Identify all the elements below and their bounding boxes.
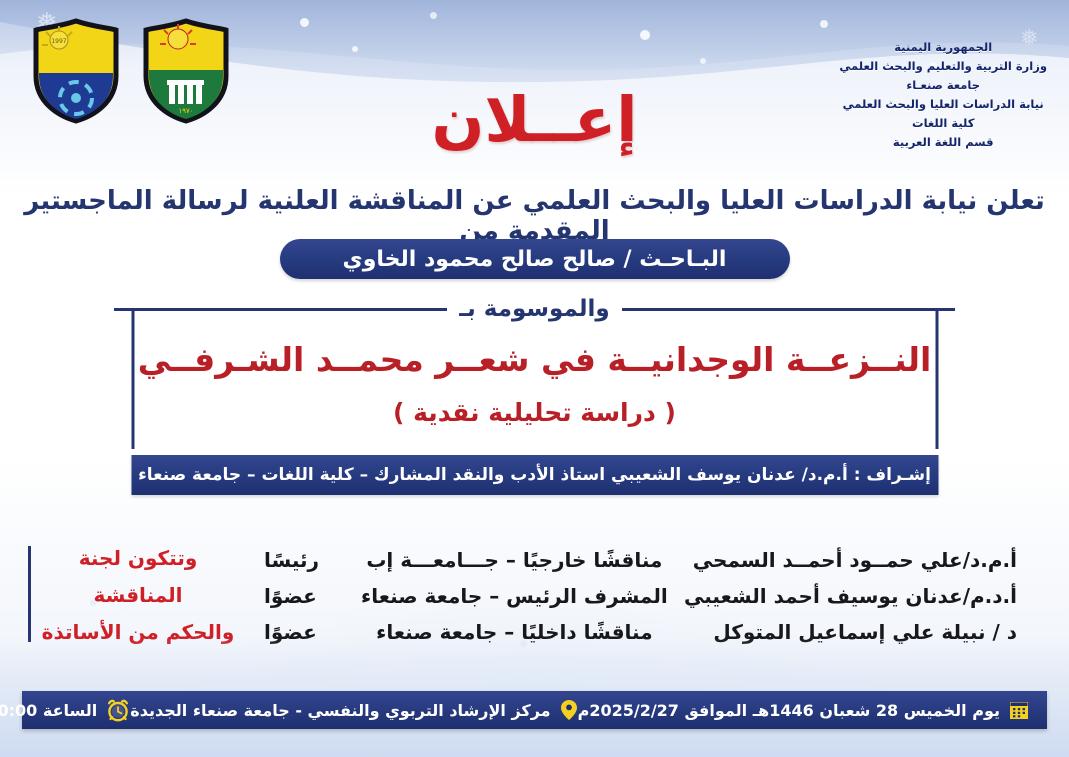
- committee-heading-line-2: والحكم من الأساتذة: [34, 614, 242, 651]
- rule-right: [114, 308, 435, 311]
- thesis-title: النــزعــة الوجدانيــة في شعــر محمــد ا…: [0, 340, 1069, 379]
- committee-heading: وتتكون لجنة المناقشة والحكم من الأساتذة: [34, 540, 242, 651]
- footer-venue-group: مركز الإرشاد التربوي والنفسي - جامعة صنع…: [130, 699, 577, 721]
- member-rank: رئيسًا: [242, 542, 349, 578]
- table-row: د / نبيلة علي إسماعيل المتوكل مناقشًا دا…: [242, 614, 1035, 650]
- ministry-line-2: وزارة التربية والتعليم والبحث العلمي: [839, 57, 1047, 76]
- bokeh-speck: [430, 12, 437, 19]
- marked-as-row: والموسومة بـ: [115, 296, 955, 322]
- member-role: مناقشًا داخليًا – جامعة صنعاء: [349, 614, 680, 650]
- member-role: مناقشًا خارجيًا – جـــامعـــة إب: [349, 542, 680, 578]
- table-row: أ.د.م/عدنان يوسيف أحمد الشعيبي المشرف ال…: [242, 578, 1035, 614]
- member-name: أ.د.م/عدنان يوسيف أحمد الشعيبي: [680, 578, 1035, 614]
- researcher-name: البـاحـث / صالح صالح محمود الخاوي: [343, 247, 727, 272]
- bokeh-speck: [640, 30, 650, 40]
- announcement-line: تعلن نيابة الدراسات العليا والبحث العلمي…: [0, 186, 1069, 246]
- member-rank: عضوًا: [242, 614, 349, 650]
- event-time: الساعة 10:00 صباحًا: [0, 701, 97, 720]
- thesis-subtitle: ( دراسة تحليلية نقدية ): [0, 398, 1069, 427]
- member-role: المشرف الرئيس – جامعة صنعاء: [349, 578, 680, 614]
- alarm-clock-icon: [106, 699, 130, 722]
- bokeh-speck: [820, 20, 828, 28]
- bokeh-speck: [352, 46, 358, 52]
- researcher-bar: البـاحـث / صالح صالح محمود الخاوي: [280, 239, 790, 279]
- event-date: يوم الخميس 28 شعبان 1446هـ الموافق 2025/…: [578, 701, 1000, 720]
- committee-heading-line-1: وتتكون لجنة المناقشة: [34, 540, 242, 614]
- footer-bar: يوم الخميس 28 شعبان 1446هـ الموافق 2025/…: [22, 691, 1047, 729]
- rule-left: [634, 308, 955, 311]
- page-title: إعــلان: [0, 83, 1069, 156]
- footer-date-group: يوم الخميس 28 شعبان 1446هـ الموافق 2025/…: [578, 700, 1029, 720]
- supervisor-text: إشـراف : أ.م.د/ عدنان يوسف الشعيبي استاذ…: [138, 465, 931, 485]
- bokeh-speck: [700, 58, 706, 64]
- footer-time-group: الساعة 10:00 صباحًا: [0, 699, 130, 722]
- member-name: أ.م.د/علي حمــود أحمــد السمحي: [680, 542, 1035, 578]
- member-name: د / نبيلة علي إسماعيل المتوكل: [680, 614, 1035, 650]
- bokeh-speck: [300, 18, 309, 27]
- svg-text:1997: 1997: [51, 38, 66, 45]
- committee-section: أ.م.د/علي حمــود أحمــد السمحي مناقشًا خ…: [0, 540, 1069, 651]
- supervisor-bar: إشـراف : أ.م.د/ عدنان يوسف الشعيبي استاذ…: [131, 455, 938, 495]
- table-row: أ.م.د/علي حمــود أحمــد السمحي مناقشًا خ…: [242, 542, 1035, 578]
- member-rank: عضوًا: [242, 578, 349, 614]
- marked-as-label: والموسومة بـ: [447, 296, 621, 322]
- location-pin-icon: [560, 699, 578, 721]
- event-venue: مركز الإرشاد التربوي والنفسي - جامعة صنع…: [130, 701, 550, 720]
- calendar-icon: [1009, 700, 1029, 720]
- announcement-poster: ❅ ❅ ❅ ❅ 1997: [0, 0, 1069, 757]
- ministry-line-1: الجمهورية اليمنية: [839, 38, 1047, 57]
- committee-table: أ.م.د/علي حمــود أحمــد السمحي مناقشًا خ…: [242, 542, 1035, 650]
